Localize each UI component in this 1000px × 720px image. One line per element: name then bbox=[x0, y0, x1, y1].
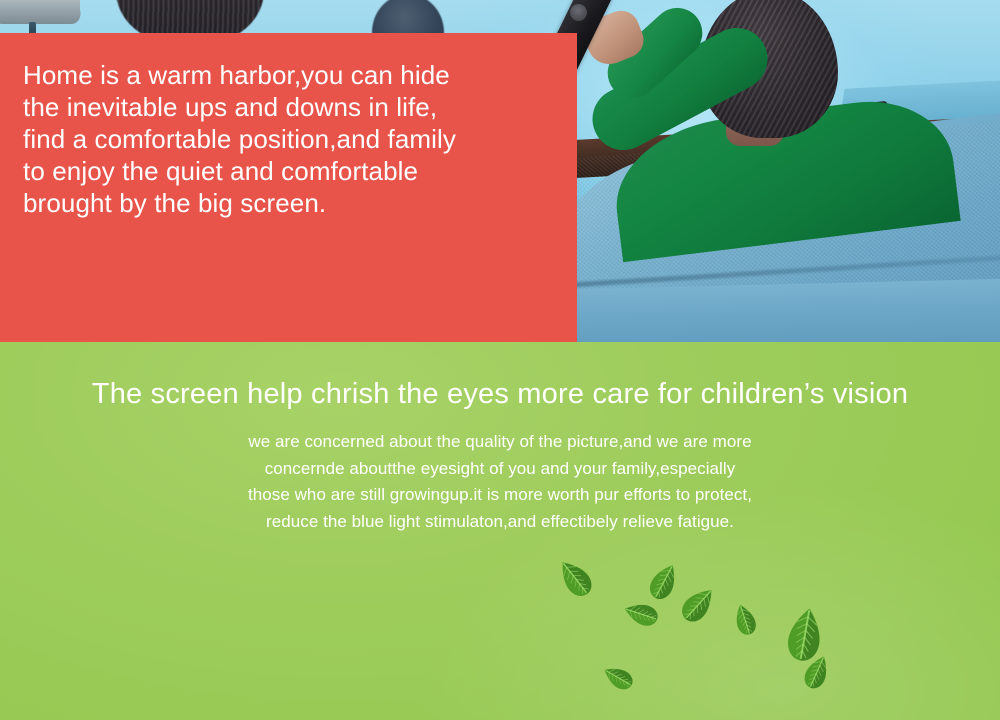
lamp-shade-icon bbox=[0, 0, 81, 24]
product-feature-banner: Home is a warm harbor,you can hide the i… bbox=[0, 0, 1000, 720]
leaf-icon bbox=[552, 554, 597, 602]
leaf-icon bbox=[600, 661, 637, 694]
leaf-icon bbox=[731, 602, 760, 638]
body-line-1: we are concerned about the quality of th… bbox=[0, 429, 1000, 456]
red-panel-copy: Home is a warm harbor,you can hide the i… bbox=[23, 59, 553, 219]
leaf-icon bbox=[621, 598, 660, 629]
eye-care-headline: The screen help chrish the eyes more car… bbox=[0, 375, 1000, 413]
sofa-front-cushion bbox=[555, 278, 1000, 342]
eye-care-body: we are concerned about the quality of th… bbox=[0, 429, 1000, 535]
leaf-icon bbox=[676, 582, 721, 628]
body-line-3: those who are still growingup.it is more… bbox=[0, 482, 1000, 509]
body-line-4: reduce the blue light stimulaton,and eff… bbox=[0, 509, 1000, 536]
leaf-icon bbox=[645, 560, 684, 604]
body-line-2: concernde aboutthe eyesight of you and y… bbox=[0, 456, 1000, 483]
red-callout-panel: Home is a warm harbor,you can hide the i… bbox=[0, 33, 577, 342]
